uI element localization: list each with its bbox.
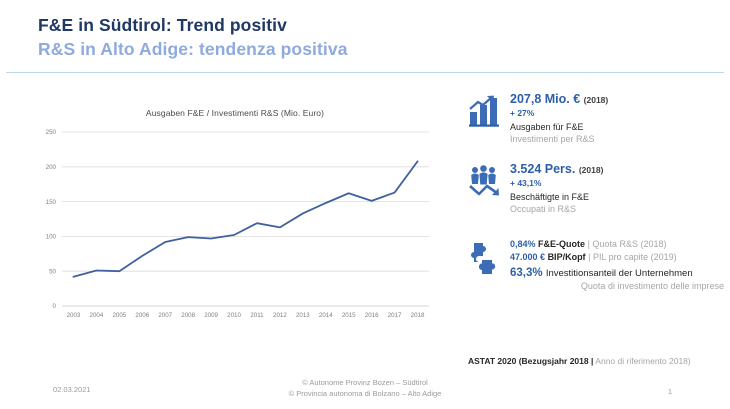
stats-column: 207,8 Mio. € (2018) + 27% Ausgaben für F… <box>468 92 726 305</box>
stat-block-expenditure: 207,8 Mio. € (2018) + 27% Ausgaben für F… <box>468 92 726 146</box>
chart-xtick-label: 2018 <box>411 312 425 319</box>
stat-label-it: Occupati in R&S <box>510 204 726 216</box>
chart-xtick-label: 2006 <box>135 312 149 319</box>
chart-ytick-label: 100 <box>46 234 57 241</box>
stat-value: 3.524 Pers. <box>510 162 575 176</box>
stat-delta: + 27% <box>510 108 726 118</box>
slide: F&E in Südtirol: Trend positiv R&S in Al… <box>0 0 730 409</box>
quota-value: 47.000 € <box>510 252 545 262</box>
chart-xtick-label: 2007 <box>158 312 172 319</box>
quota-label-de: BIP/Kopf <box>548 252 586 262</box>
chart-xtick-label: 2008 <box>181 312 195 319</box>
chart-xtick-label: 2010 <box>227 312 241 319</box>
stat-body: 0,84% F&E-Quote | Quota R&S (2018) 47.00… <box>510 238 726 291</box>
chart-xtick-label: 2017 <box>388 312 402 319</box>
page-title: F&E in Südtirol: Trend positiv <box>38 14 698 36</box>
stat-body: 207,8 Mio. € (2018) + 27% Ausgaben für F… <box>510 92 726 146</box>
chart-xtick-label: 2015 <box>342 312 356 319</box>
stat-year: (2018) <box>584 95 609 105</box>
line-chart: Ausgaben F&E / Investimenti R&S (Mio. Eu… <box>30 104 440 332</box>
footer-copyright: © Autonome Provinz Bozen – Südtirol © Pr… <box>0 378 730 400</box>
chart-xtick-label: 2009 <box>204 312 218 319</box>
stat-headline: 3.524 Pers. (2018) <box>510 162 726 176</box>
chart-title: Ausgaben F&E / Investimenti R&S (Mio. Eu… <box>30 104 440 118</box>
stat-label-it: Investimenti per R&S <box>510 134 726 146</box>
stat-headline: 207,8 Mio. € (2018) <box>510 92 726 106</box>
source-it: Anno di riferimento 2018) <box>595 356 690 366</box>
chart-xtick-label: 2011 <box>250 312 264 319</box>
chart-ytick-label: 50 <box>49 268 56 275</box>
quota-label-de: F&E-Quote <box>538 239 585 249</box>
people-growth-icon <box>468 162 510 203</box>
chart-xtick-label: 2003 <box>67 312 81 319</box>
chart-ytick-label: 0 <box>53 303 57 310</box>
quota-separator: | <box>588 252 590 262</box>
chart-ytick-label: 150 <box>46 199 57 206</box>
stat-year: (2018) <box>579 165 604 175</box>
puzzle-pieces-icon <box>468 238 510 285</box>
header-divider <box>6 72 724 73</box>
stat-label-de: Ausgaben für F&E <box>510 122 726 134</box>
chart-series-line <box>73 161 417 276</box>
stat-label-de: Beschäftigte in F&E <box>510 192 726 204</box>
stat-value: 207,8 Mio. € <box>510 92 580 106</box>
page-number: 1 <box>668 387 672 396</box>
source-note: ASTAT 2020 (Bezugsjahr 2018 | Anno di ri… <box>468 356 691 366</box>
chart-xtick-label: 2004 <box>90 312 104 319</box>
quota-separator: | <box>588 239 590 249</box>
chart-ytick-label: 250 <box>46 129 57 136</box>
quota-value: 0,84% <box>510 239 536 249</box>
quota-label-it: Quota R&S (2018) <box>592 239 666 249</box>
quota-big-label-it: Quota di investimento delle imprese <box>510 281 726 291</box>
quota-row-1: 0,84% F&E-Quote | Quota R&S (2018) <box>510 238 726 251</box>
source-de: ASTAT 2020 (Bezugsjahr 2018 <box>468 356 589 366</box>
footer-copyright-de: © Autonome Provinz Bozen – Südtirol <box>0 378 730 389</box>
chart-xtick-label: 2005 <box>112 312 126 319</box>
chart-plot-area: 0501001502002502003200420052006200720082… <box>30 126 440 332</box>
quota-big-value: 63,3% <box>510 267 543 279</box>
page-subtitle: R&S in Alto Adige: tendenza positiva <box>38 38 698 60</box>
stat-body: 3.524 Pers. (2018) + 43,1% Beschäftigte … <box>510 162 726 216</box>
chart-xtick-label: 2012 <box>273 312 287 319</box>
stat-block-employees: 3.524 Pers. (2018) + 43,1% Beschäftigte … <box>468 162 726 216</box>
quota-row-3: 63,3% Investitionsanteil der Unternehmen <box>510 265 726 281</box>
stat-block-quota: 0,84% F&E-Quote | Quota R&S (2018) 47.00… <box>468 238 726 291</box>
slide-header: F&E in Südtirol: Trend positiv R&S in Al… <box>38 14 698 61</box>
bar-chart-growth-icon <box>468 92 510 133</box>
quota-big-label-de: Investitionsanteil der Unternehmen <box>546 268 693 279</box>
chart-svg: 0501001502002502003200420052006200720082… <box>30 126 440 332</box>
chart-xtick-label: 2014 <box>319 312 333 319</box>
quota-label-it: PIL pro capite (2019) <box>593 252 677 262</box>
chart-xtick-label: 2013 <box>296 312 310 319</box>
quota-row-2: 47.000 € BIP/Kopf | PIL pro capite (2019… <box>510 251 726 264</box>
footer-copyright-it: © Provincia autonoma di Bolzano – Alto A… <box>0 389 730 400</box>
chart-ytick-label: 200 <box>46 164 57 171</box>
source-separator: | <box>591 356 593 366</box>
stat-delta: + 43,1% <box>510 178 726 188</box>
chart-xtick-label: 2016 <box>365 312 379 319</box>
